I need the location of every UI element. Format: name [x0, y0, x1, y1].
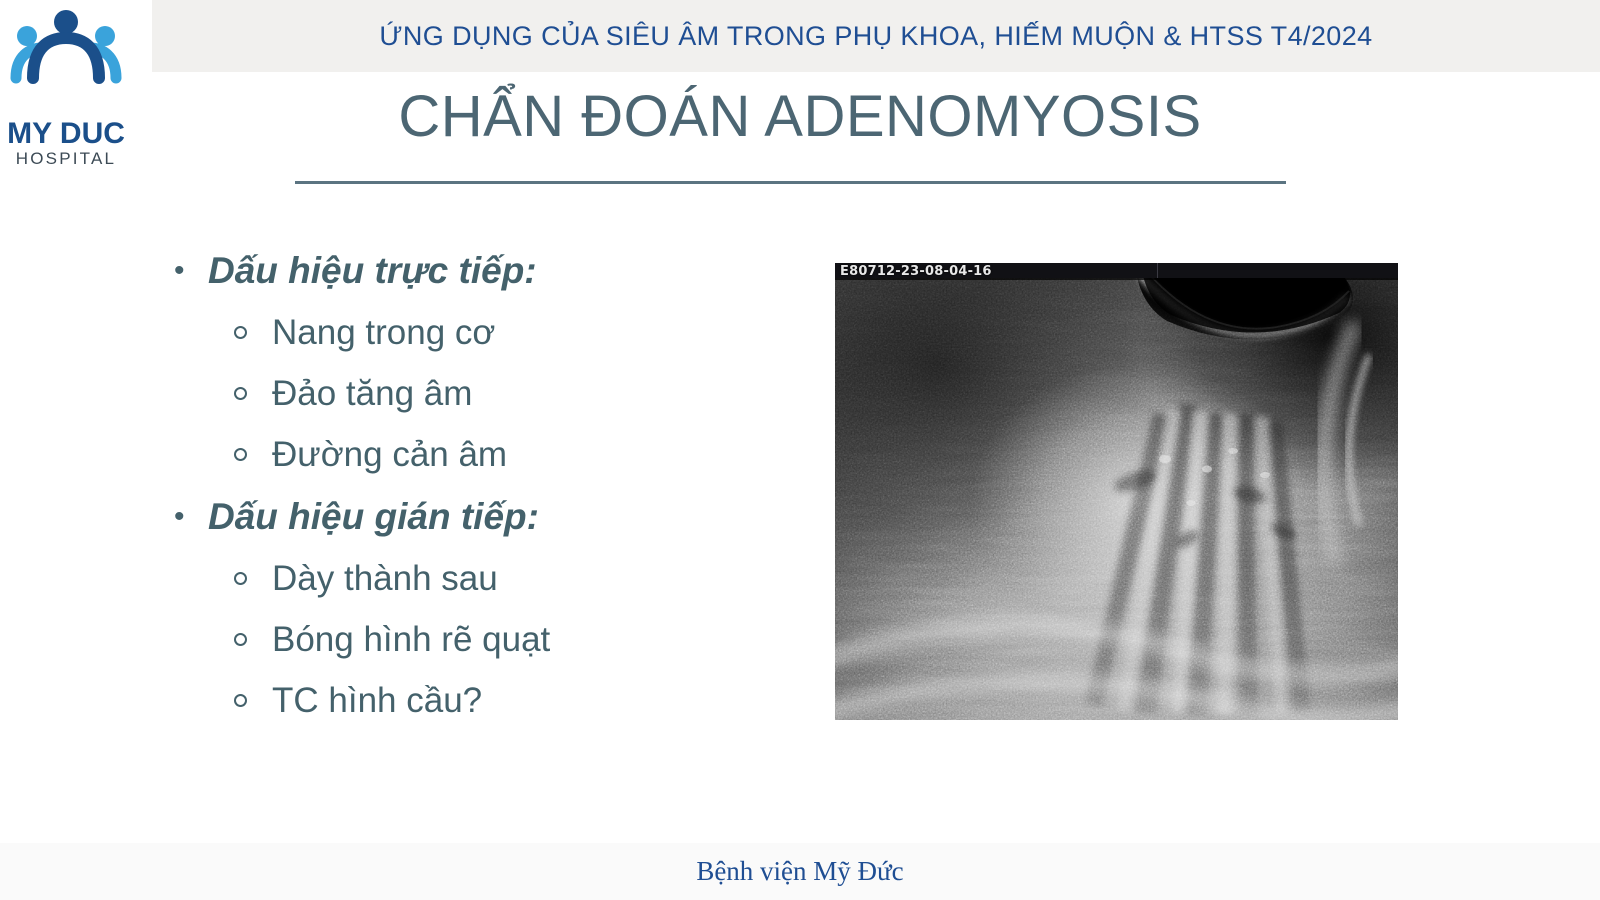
slide-title: CHẨN ĐOÁN ADENOMYOSIS: [0, 85, 1600, 149]
list-group-heading-direct: • Dấu hiệu trực tiếp:: [168, 252, 788, 289]
sub-bullet-marker: [234, 572, 247, 585]
bullet-marker: •: [174, 252, 185, 290]
list-item-label: TC hình cầu?: [272, 681, 482, 720]
list-item: Dày thành sau: [168, 561, 788, 596]
list-item-label: Đảo tăng âm: [272, 374, 472, 413]
list-item: Bóng hình rẽ quạt: [168, 622, 788, 657]
group-heading-label: Dấu hiệu gián tiếp:: [208, 496, 539, 537]
sub-bullet-marker: [234, 633, 247, 646]
logo-name-line2: HOSPITAL: [16, 149, 116, 168]
list-item: Nang trong cơ: [168, 315, 788, 350]
sub-bullet-marker: [234, 448, 247, 461]
ultrasound-image: E80712-23-08-04-16: [835, 263, 1398, 720]
footer-label: Bệnh viện Mỹ Đức: [0, 843, 1600, 900]
sub-bullet-marker: [234, 694, 247, 707]
group-heading-label: Dấu hiệu trực tiếp:: [208, 250, 537, 291]
sub-bullet-marker: [234, 387, 247, 400]
bullet-marker: •: [174, 498, 185, 536]
header-banner-title: ỨNG DỤNG CỦA SIÊU ÂM TRONG PHỤ KHOA, HIẾ…: [152, 0, 1600, 72]
list-item: Đường cản âm: [168, 437, 788, 472]
list-item: Đảo tăng âm: [168, 376, 788, 411]
sub-bullet-marker: [234, 326, 247, 339]
diagnosis-sign-list: • Dấu hiệu trực tiếp: Nang trong cơ Đảo …: [168, 252, 788, 718]
list-group-heading-indirect: • Dấu hiệu gián tiếp:: [168, 498, 788, 535]
ultrasound-id-label: E80712-23-08-04-16: [840, 264, 992, 279]
list-item: TC hình cầu?: [168, 683, 788, 718]
list-item-label: Đường cản âm: [272, 435, 507, 474]
ultrasound-render: [835, 263, 1398, 720]
title-divider: [295, 181, 1286, 184]
list-item-label: Bóng hình rẽ quạt: [272, 620, 550, 659]
list-item-label: Nang trong cơ: [272, 313, 495, 352]
list-group-spacer: [168, 472, 788, 498]
list-item-label: Dày thành sau: [272, 559, 498, 598]
